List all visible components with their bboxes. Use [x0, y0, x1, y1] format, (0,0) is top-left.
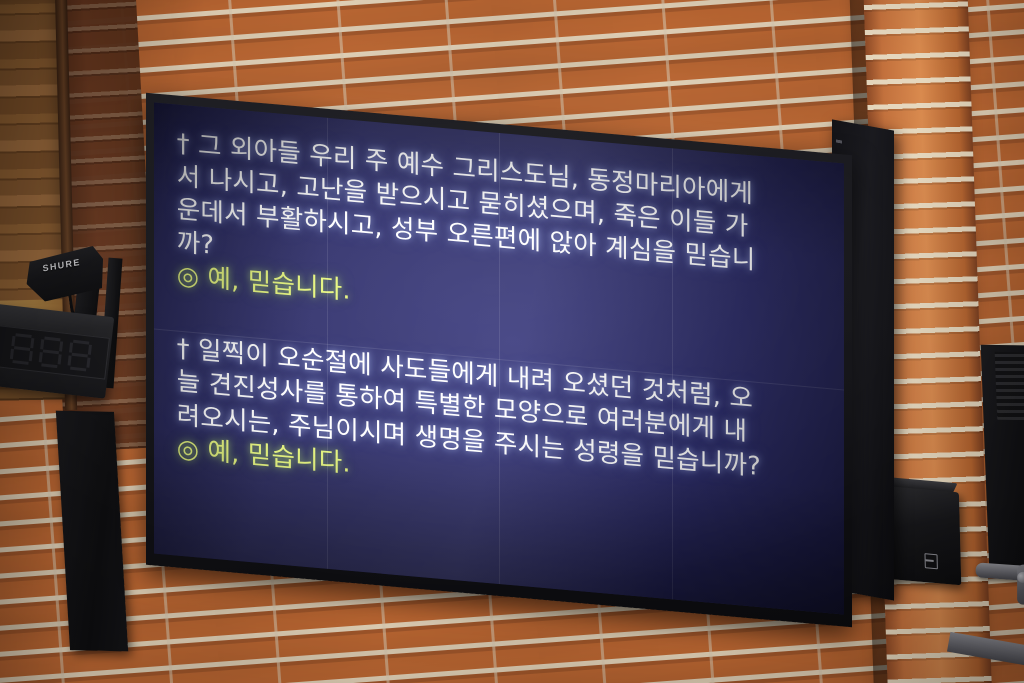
display-screen-surface: † 그 외아들 우리 주 예수 그리스도님, 동정마리아에게 서 나시고, 고난… — [154, 103, 844, 615]
sanctuary-photo-scene: SHURE — [0, 0, 1024, 683]
speaker-front-face — [883, 486, 962, 586]
display-bezel: † 그 외아들 우리 주 예수 그리스도님, 동정마리아에게 서 나시고, 고난… — [146, 93, 852, 627]
liturgy-text-content: † 그 외아들 우리 주 예수 그리스도님, 동정마리아에게 서 나시고, 고난… — [177, 127, 829, 523]
digital-clock — [0, 303, 114, 399]
vent-grille-icon — [995, 352, 1024, 420]
clock-digit — [38, 336, 63, 368]
led-video-wall: † 그 외아들 우리 주 예수 그리스도님, 동정마리아에게 서 나시고, 고난… — [142, 118, 884, 618]
speaker-brand-badge-icon — [924, 553, 937, 569]
shure-wireless-antenna: SHURE — [24, 245, 105, 302]
spotlight-head — [1017, 565, 1024, 605]
clock-digit — [67, 339, 92, 371]
clock-digit — [9, 333, 34, 365]
wall-loudspeaker — [883, 486, 962, 586]
antenna-body — [24, 245, 105, 302]
